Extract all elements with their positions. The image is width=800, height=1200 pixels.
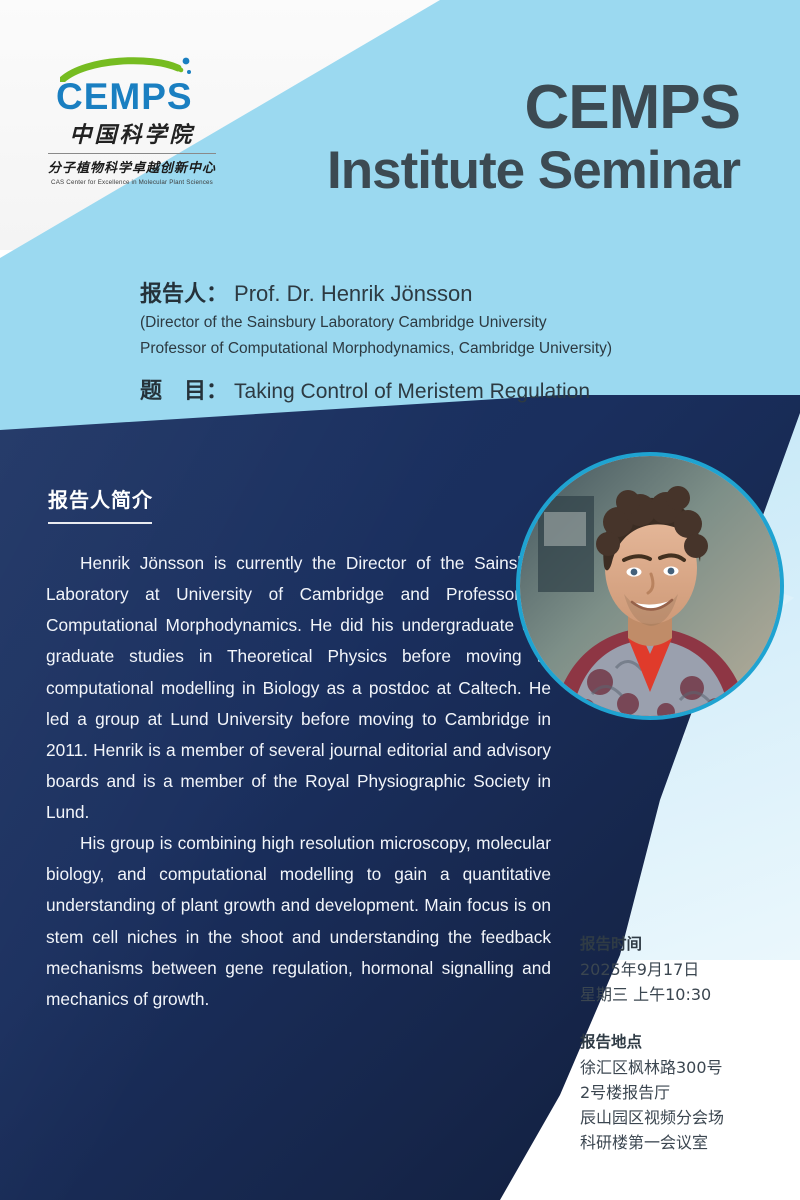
- talk-title-label: 题 目：: [140, 373, 228, 405]
- place-line-4: 科研楼第一会议室: [580, 1130, 790, 1155]
- time-clock: 星期三 上午10:30: [580, 982, 790, 1007]
- bio-heading: 报告人简介: [48, 484, 153, 513]
- speaker-affiliation-line1: (Director of the Sainsbury Laboratory Ca…: [140, 312, 760, 334]
- place-line-1: 徐汇区枫林路300号: [580, 1055, 790, 1080]
- speaker-affiliation-line2: Professor of Computational Morphodynamic…: [140, 338, 760, 360]
- page-title: CEMPS Institute Seminar: [327, 78, 740, 197]
- speaker-name-row: 报告人： Prof. Dr. Henrik Jönsson: [140, 276, 760, 308]
- place-heading: 报告地点: [580, 1030, 790, 1052]
- logo-english-tagline: CAS Center for Excellence in Molecular P…: [46, 179, 218, 186]
- logo-academy-name: 中国科学院: [46, 117, 218, 149]
- page-title-line2: Institute Seminar: [327, 145, 740, 197]
- bio-heading-underline: [48, 522, 152, 524]
- logo-center-name: 分子植物科学卓越创新中心: [46, 157, 218, 176]
- page-title-line1: CEMPS: [327, 78, 740, 139]
- speaker-block: 报告人： Prof. Dr. Henrik Jönsson (Director …: [140, 276, 760, 405]
- speaker-portrait: [516, 452, 784, 720]
- talk-title-row: 题 目： Taking Control of Meristem Regulati…: [140, 373, 760, 405]
- time-date: 2025年9月17日: [580, 957, 790, 982]
- cemps-logo: CEMPS 中国科学院 分子植物科学卓越创新中心 CAS Center for …: [46, 56, 218, 186]
- speaker-label: 报告人：: [140, 276, 228, 308]
- portrait-image: [520, 456, 780, 716]
- speaker-name: Prof. Dr. Henrik Jönsson: [234, 281, 472, 307]
- talk-title: Taking Control of Meristem Regulation: [234, 380, 590, 404]
- seminar-poster: CEMPS 中国科学院 分子植物科学卓越创新中心 CAS Center for …: [0, 0, 800, 1200]
- bio-heading-block: 报告人简介: [48, 484, 153, 524]
- bio-paragraph-2: His group is combining high resolution m…: [46, 828, 551, 1015]
- bio-paragraph-1: Henrik Jönsson is currently the Director…: [46, 548, 551, 828]
- bio-paragraph-2-text: His group is combining high resolution m…: [46, 833, 551, 1009]
- place-line-3: 辰山园区视频分会场: [580, 1105, 790, 1130]
- place-line-2: 2号楼报告厅: [580, 1080, 790, 1105]
- logo-wordmark: CEMPS: [56, 78, 218, 115]
- time-heading: 报告时间: [580, 932, 790, 954]
- bio-paragraph-1-text: Henrik Jönsson is currently the Director…: [46, 553, 551, 822]
- bio-body: Henrik Jönsson is currently the Director…: [46, 548, 551, 1015]
- logo-divider: [48, 153, 216, 154]
- event-info: 报告时间 2025年9月17日 星期三 上午10:30 报告地点 徐汇区枫林路3…: [580, 932, 790, 1156]
- info-spacer: [580, 1008, 790, 1030]
